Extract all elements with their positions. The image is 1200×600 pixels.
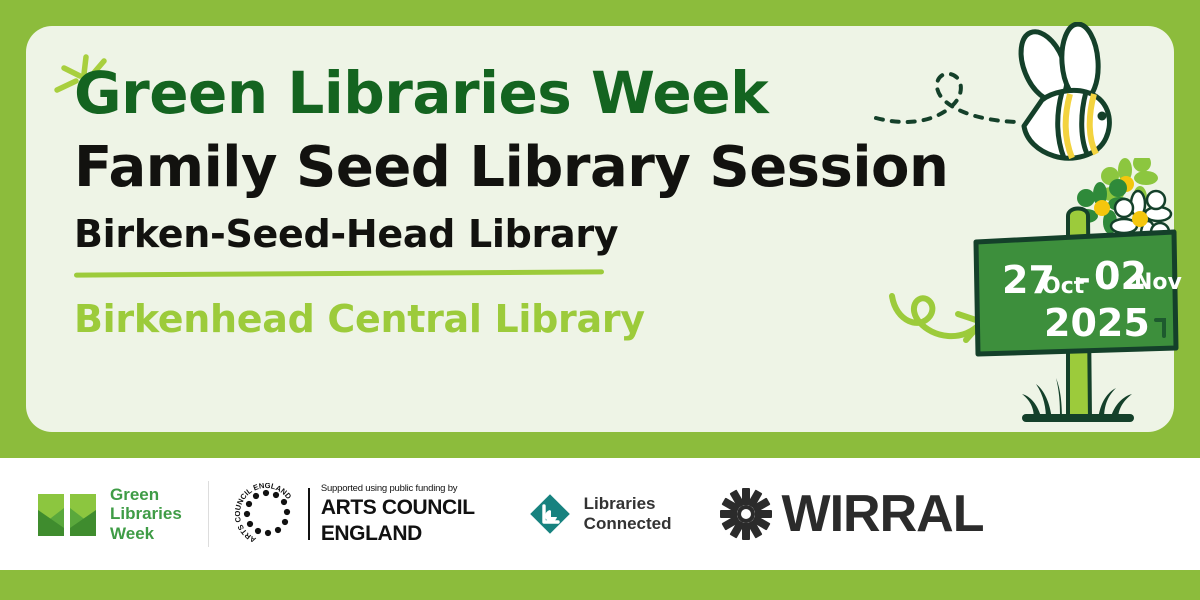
glw-line-1: Green [110, 485, 182, 505]
libraries-connected-diamond-icon [527, 491, 573, 537]
ace-wordmark-block: Supported using public funding by ARTS C… [321, 483, 475, 544]
sponsor-logo-bar: Green Libraries Week [0, 458, 1200, 570]
page-title: Family Seed Library Session [74, 137, 874, 200]
libraries-connected-wordmark: Libraries Connected [584, 494, 672, 535]
glw-line-2: Libraries [110, 504, 182, 524]
signpost-date-illustration: 27 Oct - 02 Nov 2025 [960, 158, 1190, 448]
logo-wirral: WIRRAL [718, 484, 984, 544]
ace-name-line-2: ENGLAND [321, 522, 475, 545]
sign-date-dash: - [1078, 262, 1090, 297]
subtitle-library-name: Birken-Seed-Head Library [74, 213, 874, 257]
glw-line-3: Week [110, 524, 182, 544]
sign-date-month-end: Nov [1134, 270, 1183, 295]
logo-arts-council-england: ARTS COUNCIL ENGLAND Supported using pub… [235, 483, 475, 545]
green-banner: Green Libraries Week Family Seed Library… [0, 0, 1200, 458]
ace-vertical-rule [308, 488, 310, 540]
green-libraries-week-wordmark: Green Libraries Week [110, 485, 182, 544]
wirral-wordmark: WIRRAL [782, 484, 984, 544]
wirral-starburst-icon [718, 486, 774, 542]
poster-root: Green Libraries Week Family Seed Library… [0, 0, 1200, 600]
logo-green-libraries-week: Green Libraries Week [36, 485, 182, 544]
bottom-green-strip [0, 570, 1200, 600]
open-book-leaf-icon [36, 488, 98, 540]
sign-date-year: 2025 [1044, 301, 1150, 345]
dashed-flight-path [876, 74, 1022, 122]
logo-divider [208, 481, 209, 547]
divider-rule [74, 269, 604, 277]
lc-line-2: Connected [584, 514, 672, 534]
ace-supported-line: Supported using public funding by [321, 483, 475, 494]
lc-line-1: Libraries [584, 494, 672, 514]
bee-icon [866, 22, 1118, 178]
arts-council-circle-icon: ARTS COUNCIL ENGLAND [235, 483, 297, 545]
logo-libraries-connected: Libraries Connected [527, 491, 672, 537]
eyebrow-green-libraries-week: Green Libraries Week [74, 62, 874, 125]
ace-name-line-1: ARTS COUNCIL [321, 496, 475, 519]
headline-text-block: Green Libraries Week Family Seed Library… [74, 62, 874, 342]
venue-name: Birkenhead Central Library [74, 298, 874, 342]
